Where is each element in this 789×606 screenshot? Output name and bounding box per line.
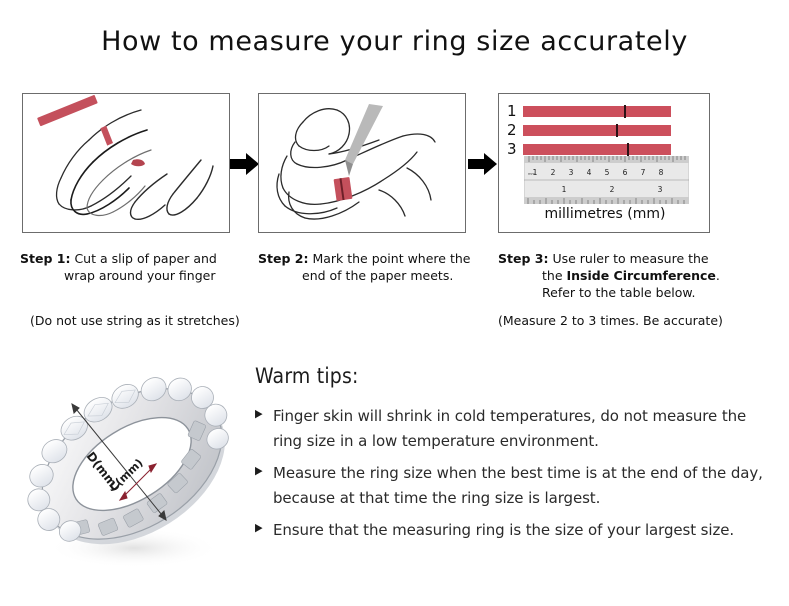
paper-strip: [523, 144, 671, 155]
bullet-triangle-icon: ▶: [255, 461, 273, 476]
svg-text:4: 4: [587, 168, 592, 177]
svg-text:6: 6: [623, 168, 628, 177]
tip-item: ▶ Finger skin will shrink in cold temper…: [255, 404, 775, 454]
step-1-caption: Step 1: Cut a slip of paper and wrap aro…: [20, 250, 252, 284]
svg-text:1: 1: [562, 185, 567, 194]
svg-text:2: 2: [610, 185, 615, 194]
step-1-label: Step 1:: [20, 251, 70, 266]
tip-text: Finger skin will shrink in cold temperat…: [273, 404, 775, 454]
strip-mark: [616, 124, 618, 137]
tip-item: ▶ Ensure that the measuring ring is the …: [255, 518, 775, 543]
measure-strip-row: 2: [507, 123, 671, 138]
step-3-caption: Step 3: Use ruler to measure the the Ins…: [498, 250, 750, 301]
step-3-line2-suffix: .: [716, 268, 720, 283]
measure-strip-row: 1: [507, 104, 671, 119]
svg-text:2: 2: [551, 168, 556, 177]
arrow-step1-to-step2-icon: [230, 151, 260, 177]
step-2-line1: Mark the point where the: [312, 251, 470, 266]
step-1-panel: [22, 93, 230, 233]
strip-number: 3: [507, 142, 523, 157]
ring-diagram: D(mm) C(mm): [16, 352, 248, 584]
ruler-illustration: 1 2 3 4 5 6 7 8 mm 1 2 3: [524, 156, 689, 204]
strip-mark: [624, 105, 626, 118]
tip-text: Measure the ring size when the best time…: [273, 461, 775, 511]
svg-text:8: 8: [659, 168, 664, 177]
step-3-line2: the Inside Circumference.: [498, 267, 750, 284]
svg-text:3: 3: [658, 185, 663, 194]
paper-strip: [523, 106, 671, 117]
strip-mark: [627, 143, 629, 156]
ruler-unit-caption: millimetres (mm): [499, 206, 710, 222]
bullet-triangle-icon: ▶: [255, 404, 273, 419]
step-1-line1: Cut a slip of paper and: [74, 251, 216, 266]
step-2-label: Step 2:: [258, 251, 308, 266]
step-3-label: Step 3:: [498, 251, 548, 266]
step-3-line1: Use ruler to measure the: [552, 251, 708, 266]
paper-strip: [523, 125, 671, 136]
warm-tips-section: Warm tips: ▶ Finger skin will shrink in …: [255, 364, 775, 550]
tip-item: ▶ Measure the ring size when the best ti…: [255, 461, 775, 511]
step-3-line3: Refer to the table below.: [498, 284, 750, 301]
hand-marking-paper-illustration: [259, 94, 465, 232]
step-3-panel: 1 2 3: [498, 93, 710, 233]
ring-illustration: D(mm) C(mm): [16, 352, 248, 584]
svg-text:5: 5: [605, 168, 610, 177]
paper-slip-shape: [37, 95, 98, 127]
inside-circumference-emphasis: Inside Circumference: [567, 268, 716, 283]
svg-text:mm: mm: [528, 172, 535, 176]
measure-strip-row: 3: [507, 142, 671, 157]
step-2-panel: [258, 93, 466, 233]
strip-number: 2: [507, 123, 523, 138]
paper-band-with-mark: [334, 177, 353, 201]
step-1-note: (Do not use string as it stretches): [30, 313, 240, 328]
step-3-line2-prefix: the: [542, 268, 567, 283]
step-2-caption: Step 2: Mark the point where the end of …: [258, 250, 490, 284]
step-panels-row: 1 2 3: [0, 93, 789, 234]
step-1-line2: wrap around your finger: [20, 267, 252, 284]
step-3-note: (Measure 2 to 3 times. Be accurate): [498, 313, 723, 328]
hand-with-paper-slip-illustration: [23, 94, 229, 232]
step-2-line2: end of the paper meets.: [258, 267, 490, 284]
svg-text:3: 3: [569, 168, 574, 177]
tip-text: Ensure that the measuring ring is the si…: [273, 518, 775, 543]
strip-number: 1: [507, 104, 523, 119]
warm-tips-heading: Warm tips:: [255, 364, 775, 388]
bullet-triangle-icon: ▶: [255, 518, 273, 533]
svg-text:7: 7: [641, 168, 646, 177]
arrow-step2-to-step3-icon: [468, 151, 498, 177]
page-title: How to measure your ring size accurately: [0, 26, 789, 57]
